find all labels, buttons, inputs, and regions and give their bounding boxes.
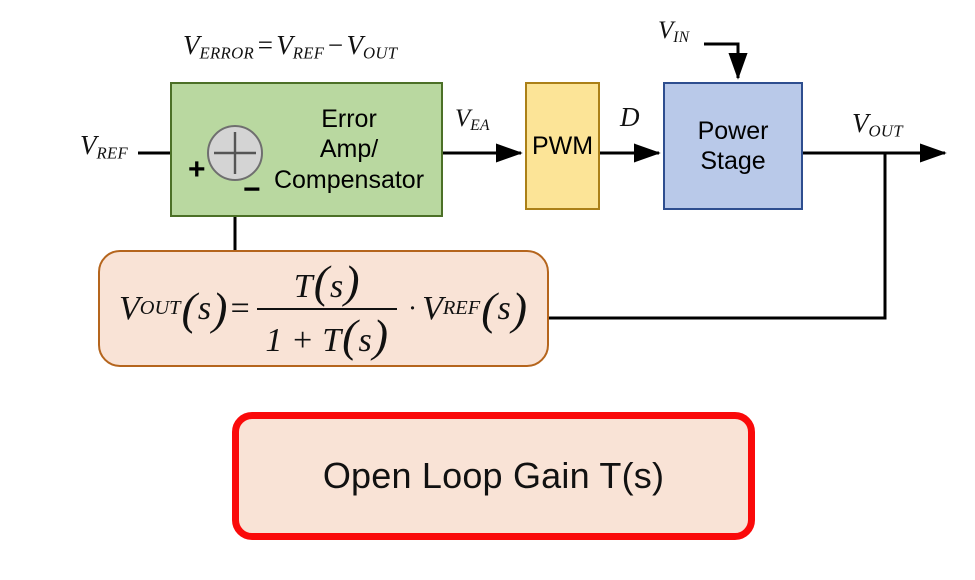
block-power-stage-label: Power Stage xyxy=(698,116,769,177)
v-ref-term-sub: REF xyxy=(293,43,325,62)
closed-loop-formula: VOUT(s) = T(s) 1 + T(s) · VREF(s) xyxy=(119,259,528,359)
formula-equals: = xyxy=(228,292,251,326)
formula-lhs-base: V xyxy=(119,292,140,326)
formula-den-base: 1 + T xyxy=(265,322,341,359)
formula-rhs-arg: s xyxy=(498,292,511,326)
formula-num-arg: s xyxy=(330,268,343,305)
formula-rhs-paren-open: ( xyxy=(480,286,497,332)
label-v-ref: VREF xyxy=(80,132,128,162)
v-error-base: V xyxy=(183,30,200,60)
v-out-term-sub: OUT xyxy=(363,43,397,62)
d-base: D xyxy=(620,102,640,132)
diagram-canvas: Error Amp/ Compensator PWM Power Stage +… xyxy=(0,0,975,580)
label-duty-cycle: D xyxy=(620,104,640,131)
formula-den-paren-open: ( xyxy=(341,310,358,361)
summing-junction-minus-sign: − xyxy=(243,175,261,205)
label-v-in: VIN xyxy=(658,18,689,46)
formula-rhs-base: V xyxy=(422,292,443,326)
block-power-stage[interactable]: Power Stage xyxy=(663,82,803,210)
formula-num-paren-close: ) xyxy=(343,256,360,307)
formula-num-paren-open: ( xyxy=(313,256,330,307)
formula-den-paren-close: ) xyxy=(372,310,389,361)
block-pwm-label: PWM xyxy=(532,131,593,162)
formula-denominator: 1 + T(s) xyxy=(257,308,397,359)
v-out-sub: OUT xyxy=(869,121,903,140)
plus-icon xyxy=(209,127,261,179)
v-out-term-base: V xyxy=(347,30,364,60)
formula-lhs-arg: s xyxy=(198,292,211,326)
formula-fraction: T(s) 1 + T(s) xyxy=(257,259,397,359)
equals-sign: = xyxy=(254,30,276,60)
v-ref-base: V xyxy=(80,130,97,160)
label-v-error-equation: VERROR=VREF−VOUT xyxy=(183,32,397,62)
v-in-base: V xyxy=(658,17,673,44)
v-ref-sub: REF xyxy=(97,143,129,162)
block-pwm[interactable]: PWM xyxy=(525,82,600,210)
minus-sign: − xyxy=(324,30,346,60)
formula-rhs-sub: REF xyxy=(443,298,480,318)
formula-rhs-paren-close: ) xyxy=(511,286,528,332)
v-error-sub: ERROR xyxy=(200,43,254,62)
v-ea-base: V xyxy=(455,105,470,132)
label-v-ea: VEA xyxy=(455,106,490,134)
formula-den-arg: s xyxy=(358,322,371,359)
formula-lhs-paren-open: ( xyxy=(181,286,198,332)
closed-loop-formula-box[interactable]: VOUT(s) = T(s) 1 + T(s) · VREF(s) xyxy=(98,250,549,367)
v-ref-term-base: V xyxy=(276,30,293,60)
wire-vin-to-powerstage xyxy=(704,44,738,78)
open-loop-gain-label: Open Loop Gain T(s) xyxy=(323,455,664,497)
v-ea-sub: EA xyxy=(470,117,490,134)
v-in-sub: IN xyxy=(673,29,689,46)
formula-numerator: T(s) xyxy=(286,259,369,308)
open-loop-gain-callout[interactable]: Open Loop Gain T(s) xyxy=(232,412,755,540)
formula-lhs-paren-close: ) xyxy=(211,286,228,332)
formula-num-base: T xyxy=(294,268,313,305)
formula-lhs-sub: OUT xyxy=(140,298,181,318)
v-out-base: V xyxy=(852,108,869,138)
label-v-out: VOUT xyxy=(852,110,903,140)
formula-dot-operator: · xyxy=(403,295,422,322)
block-error-amp-label: Error Amp/ Compensator xyxy=(269,104,429,196)
summing-junction-plus-sign: + xyxy=(188,155,206,185)
